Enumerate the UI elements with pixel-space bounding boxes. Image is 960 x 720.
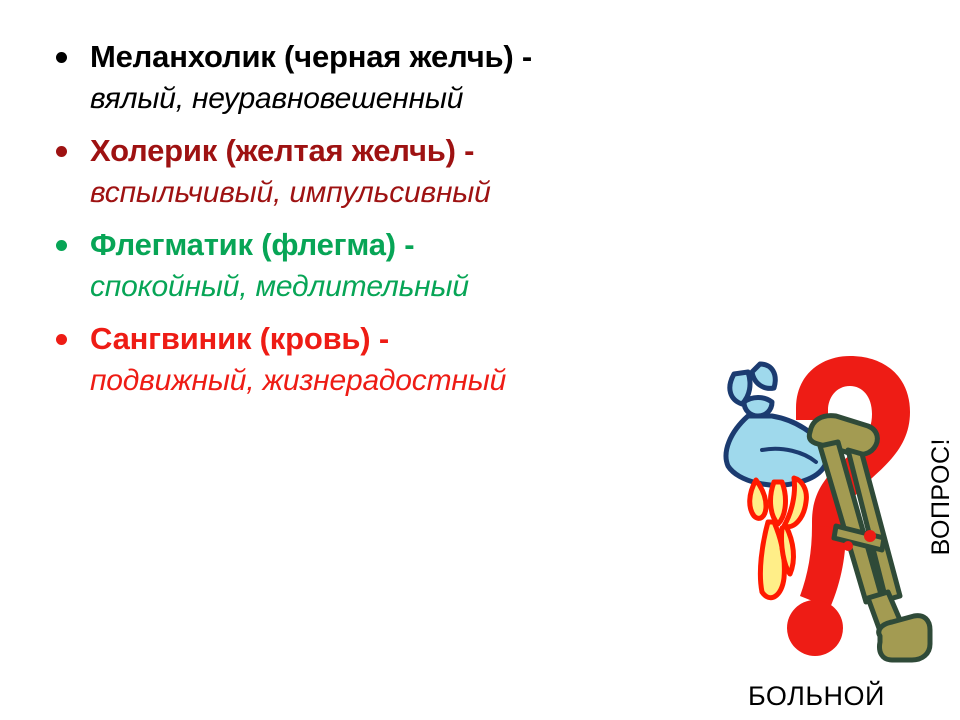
- question-mark-dot: [787, 600, 843, 656]
- flame-icon: [750, 478, 807, 598]
- bullet-dot-icon: [56, 52, 67, 63]
- bullet-dot-icon: [56, 334, 67, 345]
- list-item-secondary-text: вспыльчивый, импульсивный: [90, 172, 746, 214]
- slide-canvas: Меланхолик (черная желчь) - вялый, неура…: [0, 0, 960, 720]
- list-item-secondary-text: подвижный, жизнерадостный: [90, 360, 746, 402]
- list-item-primary-text: Флегматик (флегма) -: [90, 224, 746, 266]
- list-item-secondary-text: вялый, неуравновешенный: [90, 78, 746, 120]
- list-item: Холерик (желтая желчь) - вспыльчивый, им…: [46, 130, 746, 214]
- list-item: Меланхолик (черная желчь) - вялый, неура…: [46, 36, 746, 120]
- illustration-bottom-label: БОЛЬНОЙ: [748, 681, 885, 712]
- bullet-dot-icon: [56, 146, 67, 157]
- list-item-primary-text: Меланхолик (черная желчь) -: [90, 36, 746, 78]
- bullet-dot-icon: [56, 240, 67, 251]
- list-item: Сангвиник (кровь) - подвижный, жизнерадо…: [46, 318, 746, 402]
- list-item: Флегматик (флегма) - спокойный, медлител…: [46, 224, 746, 308]
- sick-patient-question-mark-clipart: ВОПРОС! БОЛЬНОЙ: [700, 330, 960, 720]
- bullet-list: Меланхолик (черная желчь) - вялый, неура…: [46, 36, 746, 412]
- illustration-vertical-label: ВОПРОС!: [927, 438, 956, 555]
- list-item-secondary-text: спокойный, медлительный: [90, 266, 746, 308]
- list-item-primary-text: Сангвиник (кровь) -: [90, 318, 746, 360]
- list-item-primary-text: Холерик (желтая желчь) -: [90, 130, 746, 172]
